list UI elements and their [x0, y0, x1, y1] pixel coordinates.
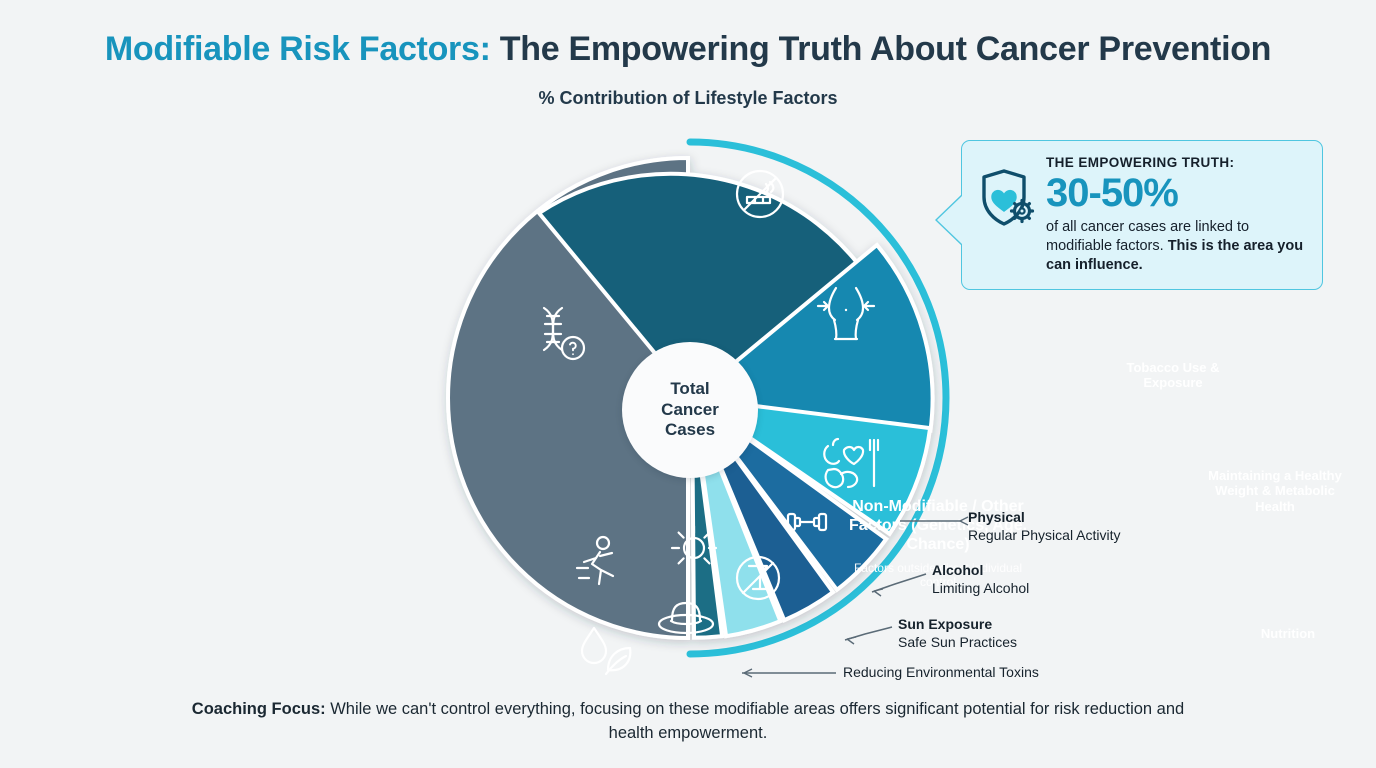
- slice-label-tobacco: Tobacco Use & Exposure: [1108, 360, 1238, 391]
- coaching-focus-label: Coaching Focus:: [192, 700, 326, 718]
- annotation-alcohol-sub: Limiting Alcohol: [932, 579, 1029, 597]
- page-title: Modifiable Risk Factors: The Empowering …: [0, 30, 1376, 69]
- annotation-alcohol-head: Alcohol: [932, 561, 1029, 579]
- coaching-focus-footer: Coaching Focus: While we can't control e…: [188, 698, 1188, 746]
- annotation-sun-head: Sun Exposure: [898, 615, 1017, 633]
- annotation-environmental-toxins: Reducing Environmental Toxins: [843, 663, 1039, 681]
- shield-heart-gear-icon: [976, 167, 1036, 234]
- annotation-physical-sub: Regular Physical Activity: [968, 526, 1121, 544]
- annotation-toxins-sub: Reducing Environmental Toxins: [843, 663, 1039, 681]
- infographic-canvas: Modifiable Risk Factors: The Empowering …: [0, 0, 1376, 768]
- empowering-truth-callout: THE EMPOWERING TRUTH: 30-50% of all canc…: [961, 140, 1323, 290]
- page-subtitle: % Contribution of Lifestyle Factors: [0, 88, 1376, 109]
- center-hub-line3: Cases: [665, 420, 715, 440]
- annotation-physical: Physical Regular Physical Activity: [968, 508, 1121, 544]
- page-title-rest: The Empowering Truth About Cancer Preven…: [491, 30, 1272, 68]
- slice-label-nutrition: Nutrition: [1240, 626, 1336, 641]
- callout-stat: 30-50%: [1046, 172, 1306, 214]
- annotation-sun-sub: Safe Sun Practices: [898, 633, 1017, 651]
- annotation-physical-head: Physical: [968, 508, 1121, 526]
- annotation-sun-exposure: Sun Exposure Safe Sun Practices: [898, 615, 1017, 651]
- water-leaf-icon: [582, 628, 630, 674]
- callout-text: of all cancer cases are linked to modifi…: [1046, 218, 1306, 275]
- callout-kicker: THE EMPOWERING TRUTH:: [1046, 155, 1306, 170]
- coaching-focus-text: While we can't control everything, focus…: [326, 700, 1185, 742]
- callout-body: THE EMPOWERING TRUTH: 30-50% of all canc…: [1046, 155, 1306, 275]
- center-hub-line1: Total: [670, 379, 709, 399]
- slice-label-healthy-weight: Maintaining a Healthy Weight & Metabolic…: [1205, 468, 1345, 514]
- chart-center-hub: Total Cancer Cases: [622, 342, 758, 478]
- annotation-alcohol: Alcohol Limiting Alcohol: [932, 561, 1029, 597]
- center-hub-line2: Cancer: [661, 400, 719, 420]
- page-title-accent: Modifiable Risk Factors:: [105, 30, 491, 68]
